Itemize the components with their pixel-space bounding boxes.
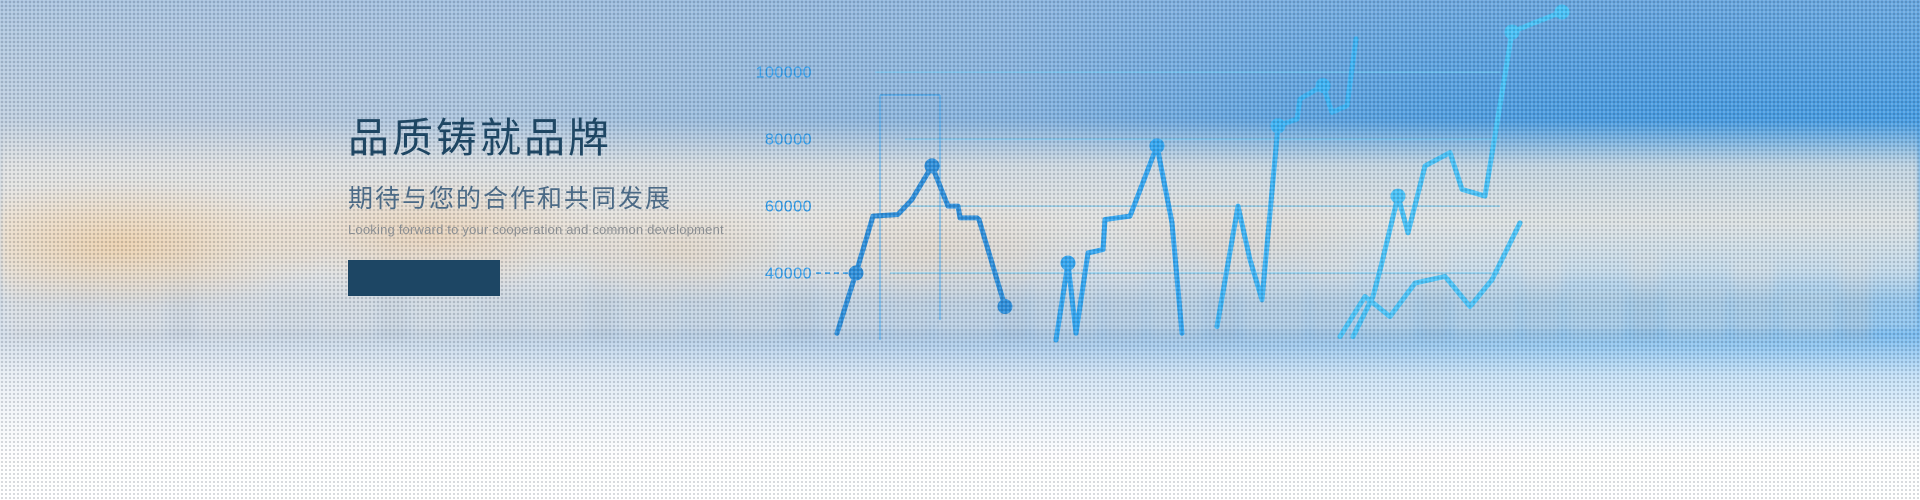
copy-block: 品质铸就品牌 期待与您的合作和共同发展 Looking forward to y… bbox=[348, 118, 768, 296]
halftone-highlight-overlay bbox=[0, 0, 1920, 500]
promo-banner: 400006000080000100000 品质铸就品牌 期待与您的合作和共同发… bbox=[0, 0, 1920, 500]
banner-subtitle-en: Looking forward to your cooperation and … bbox=[348, 223, 768, 236]
cta-button[interactable] bbox=[348, 260, 500, 296]
banner-title: 品质铸就品牌 bbox=[348, 118, 768, 159]
banner-subtitle-cn: 期待与您的合作和共同发展 bbox=[348, 187, 768, 212]
